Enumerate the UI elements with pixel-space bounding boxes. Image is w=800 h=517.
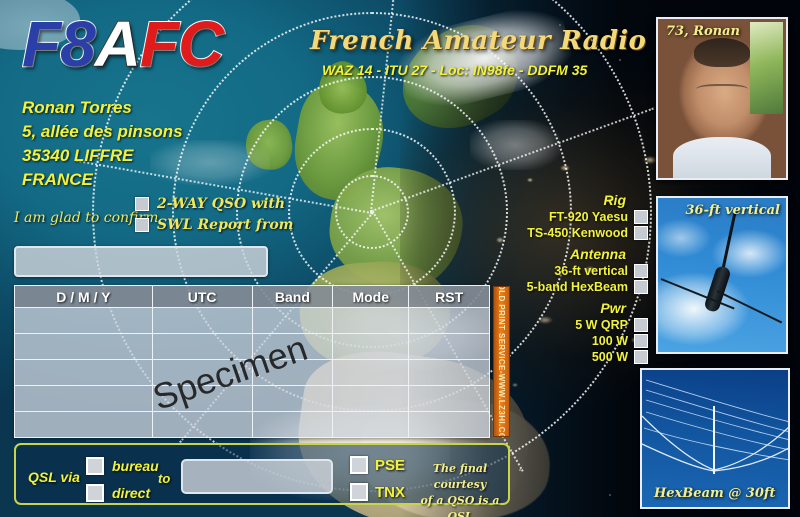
column-header-utc: UTC [152, 286, 252, 308]
cell-rst[interactable] [409, 360, 490, 386]
address-name: Ronan Torres [22, 96, 183, 120]
callsign: F8AFC [22, 12, 223, 76]
courtesy-line-1: The final courtesy [412, 461, 508, 493]
checkbox-2way-qso[interactable] [135, 197, 149, 211]
log-table: D / M / Y UTC Band Mode RST [14, 285, 490, 438]
equipment-label: 100 W [592, 334, 628, 348]
cell-utc[interactable] [152, 360, 252, 386]
cell-rst[interactable] [409, 308, 490, 334]
qsl-option-bureau[interactable]: bureau [86, 457, 159, 475]
checkbox-swl-report[interactable] [135, 218, 149, 232]
table-row[interactable] [15, 386, 490, 412]
checkbox-power-qrp[interactable] [634, 318, 648, 332]
cell-date[interactable] [15, 334, 153, 360]
qsl-route-options: bureau direct [86, 457, 159, 502]
cell-band[interactable] [252, 386, 333, 412]
vertical-antenna-image [658, 198, 786, 352]
cell-rst[interactable] [409, 386, 490, 412]
cell-mode[interactable] [333, 360, 409, 386]
address-city: 35340 LIFFRE [22, 144, 183, 168]
photo-caption-hexbeam: HexBeam @ 30ft [654, 486, 775, 501]
column-header-date: D / M / Y [15, 286, 153, 308]
confirm-option-label: SWL Report from [157, 217, 294, 233]
confirm-option-label: 2-WAY QSO with [157, 196, 285, 212]
equipment-label: 500 W [592, 350, 628, 364]
checkbox-rig-ts450[interactable] [634, 226, 648, 240]
cell-band[interactable] [252, 360, 333, 386]
table-row[interactable] [15, 360, 490, 386]
cell-mode[interactable] [333, 386, 409, 412]
cell-band[interactable] [252, 308, 333, 334]
cell-utc[interactable] [152, 386, 252, 412]
worked-callsign-input[interactable] [14, 246, 268, 277]
checkbox-power-100w[interactable] [634, 334, 648, 348]
cell-mode[interactable] [333, 334, 409, 360]
cell-band[interactable] [252, 334, 333, 360]
table-row[interactable] [15, 412, 490, 438]
antenna-guy-wire [716, 290, 781, 323]
courtesy-motto: The final courtesy of a QSO is a QSL [412, 461, 508, 517]
qsl-via-panel: QSL via bureau direct to PSE TNX The [14, 443, 510, 505]
courtesy-line-2: of a QSO is a QSL [412, 493, 508, 517]
callsign-part-blue: F8 [22, 8, 95, 80]
cell-utc[interactable] [152, 308, 252, 334]
equipment-label: 5-band HexBeam [527, 280, 628, 294]
table-header-row: D / M / Y UTC Band Mode RST [15, 286, 490, 308]
equipment-option-qrp[interactable]: 5 W QRP [502, 318, 648, 332]
confirm-option-swl[interactable]: SWL Report from [135, 217, 294, 233]
confirm-option-2way[interactable]: 2-WAY QSO with [135, 196, 294, 212]
equipment-heading-power: Pwr [502, 300, 648, 316]
equipment-option-hexbeam[interactable]: 5-band HexBeam [502, 280, 648, 294]
equipment-label: FT-920 Yaesu [549, 210, 628, 224]
equipment-heading-antenna: Antenna [502, 246, 648, 262]
column-header-rst: RST [409, 286, 490, 308]
cell-date[interactable] [15, 360, 153, 386]
cell-utc[interactable] [152, 412, 252, 438]
photo-caption-vertical: 36-ft vertical [685, 203, 780, 218]
qsl-option-tnx[interactable]: TNX [350, 483, 405, 501]
column-header-band: Band [252, 286, 333, 308]
cell-mode[interactable] [333, 412, 409, 438]
equipment-option-100w[interactable]: 100 W [502, 334, 648, 348]
qsl-option-direct[interactable]: direct [86, 484, 159, 502]
qsl-option-pse[interactable]: PSE [350, 456, 405, 474]
cell-date[interactable] [15, 308, 153, 334]
equipment-label: 36-ft vertical [554, 264, 628, 278]
checkbox-power-500w[interactable] [634, 350, 648, 364]
equipment-label: 5 W QRP [575, 318, 628, 332]
checkbox-antenna-vertical[interactable] [634, 264, 648, 278]
table-row[interactable] [15, 334, 490, 360]
checkbox-qsl-direct[interactable] [86, 484, 104, 502]
equipment-label: TS-450 Kenwood [527, 226, 628, 240]
column-header-mode: Mode [333, 286, 409, 308]
qsl-option-label: bureau [112, 458, 159, 474]
qsl-to-input[interactable] [181, 459, 333, 494]
callsign-part-white: A [95, 8, 140, 80]
portrait-image [658, 19, 786, 178]
portrait-glasses [696, 84, 747, 97]
checkbox-pse[interactable] [350, 456, 368, 474]
photo-hexbeam-antenna: HexBeam @ 30ft [640, 368, 790, 509]
equipment-heading-rig: Rig [502, 192, 648, 208]
checkbox-antenna-hexbeam[interactable] [634, 280, 648, 294]
cell-date[interactable] [15, 412, 153, 438]
equipment-panel: Rig FT-920 Yaesu TS-450 Kenwood Antenna … [502, 192, 648, 364]
equipment-option-vertical[interactable]: 36-ft vertical [502, 264, 648, 278]
address-country: FRANCE [22, 168, 183, 192]
equipment-option-ts450[interactable]: TS-450 Kenwood [502, 226, 648, 240]
address-block: Ronan Torres 5, allée des pinsons 35340 … [22, 96, 183, 193]
callsign-part-red: FC [140, 8, 223, 80]
pse-tnx-options: PSE TNX [350, 456, 405, 501]
portrait-window [750, 22, 783, 114]
portrait-shirt [673, 137, 770, 178]
qsl-option-label: direct [112, 485, 150, 501]
cell-mode[interactable] [333, 308, 409, 334]
qsl-to-label: to [158, 471, 170, 486]
photo-operator-portrait: 73, Ronan [656, 17, 788, 180]
cell-rst[interactable] [409, 412, 490, 438]
confirm-options: 2-WAY QSO with SWL Report from [135, 196, 294, 233]
qsl-via-label: QSL via [28, 469, 80, 485]
equipment-option-500w[interactable]: 500 W [502, 350, 648, 364]
station-subtitle: WAZ 14 - ITU 27 - Loc: IN98fe - DDFM 35 [322, 62, 587, 78]
cell-utc[interactable] [152, 334, 252, 360]
pse-label: PSE [375, 457, 405, 474]
portrait-hair [694, 38, 750, 67]
address-street: 5, allée des pinsons [22, 120, 183, 144]
checkbox-rig-ft920[interactable] [634, 210, 648, 224]
photo-caption-portrait: 73, Ronan [666, 24, 740, 39]
cell-band[interactable] [252, 412, 333, 438]
photo-vertical-antenna: 36-ft vertical [656, 196, 788, 354]
checkbox-qsl-bureau[interactable] [86, 457, 104, 475]
tnx-label: TNX [375, 484, 405, 501]
qsl-card: F8AFC Ronan Torres 5, allée des pinsons … [0, 0, 800, 517]
checkbox-tnx[interactable] [350, 483, 368, 501]
equipment-option-ft920[interactable]: FT-920 Yaesu [502, 210, 648, 224]
cell-date[interactable] [15, 386, 153, 412]
cell-rst[interactable] [409, 334, 490, 360]
table-row[interactable] [15, 308, 490, 334]
